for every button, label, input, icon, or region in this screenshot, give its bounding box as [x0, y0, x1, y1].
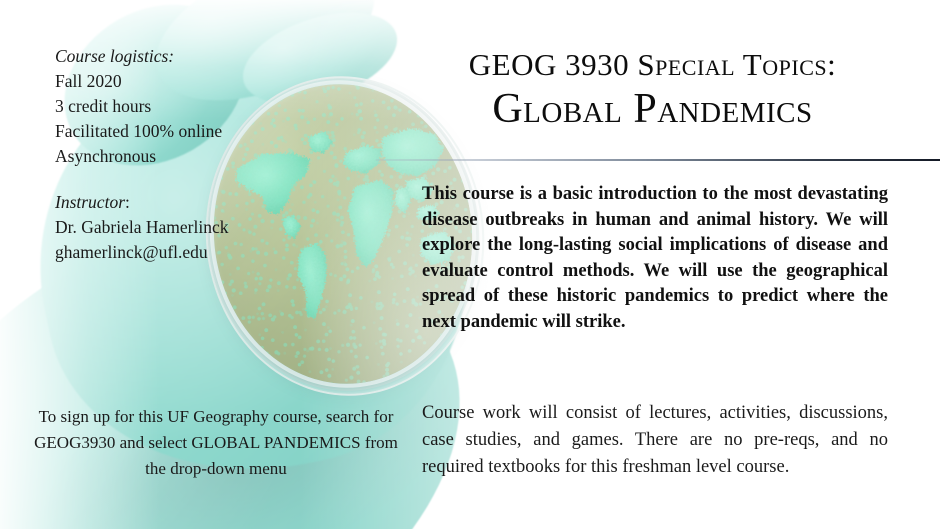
page-title: GEOG 3930 Special Topics: Global Pandemi…	[380, 48, 925, 134]
course-logistics-block: Course logistics: Fall 2020 3 credit hou…	[55, 44, 345, 169]
instructor-block: Instructor: Dr. Gabriela Hamerlinck gham…	[55, 190, 355, 265]
title-course-code: GEOG 3930 Special Topics:	[380, 48, 925, 82]
title-divider	[376, 159, 940, 161]
logistics-line-delivery: Facilitated 100% online	[55, 119, 345, 144]
logistics-line-term: Fall 2020	[55, 69, 345, 94]
instructor-name: Dr. Gabriela Hamerlinck	[55, 215, 355, 240]
signup-instructions: To sign up for this UF Geography course,…	[28, 404, 404, 482]
logistics-line-credits: 3 credit hours	[55, 94, 345, 119]
instructor-heading-colon: :	[125, 192, 130, 212]
instructor-heading-label: Instructor	[55, 192, 125, 212]
course-logistics-heading: Course logistics:	[55, 44, 345, 69]
instructor-heading: Instructor:	[55, 190, 355, 215]
logistics-line-modality: Asynchronous	[55, 144, 345, 169]
flyer-content: Course logistics: Fall 2020 3 credit hou…	[0, 0, 940, 529]
course-work-paragraph: Course work will consist of lectures, ac…	[422, 400, 888, 481]
instructor-email[interactable]: ghamerlinck@ufl.edu	[55, 240, 355, 265]
title-course-name: Global Pandemics	[380, 84, 925, 134]
course-flyer: Course logistics: Fall 2020 3 credit hou…	[0, 0, 940, 529]
course-description-paragraph: This course is a basic introduction to t…	[422, 182, 888, 335]
